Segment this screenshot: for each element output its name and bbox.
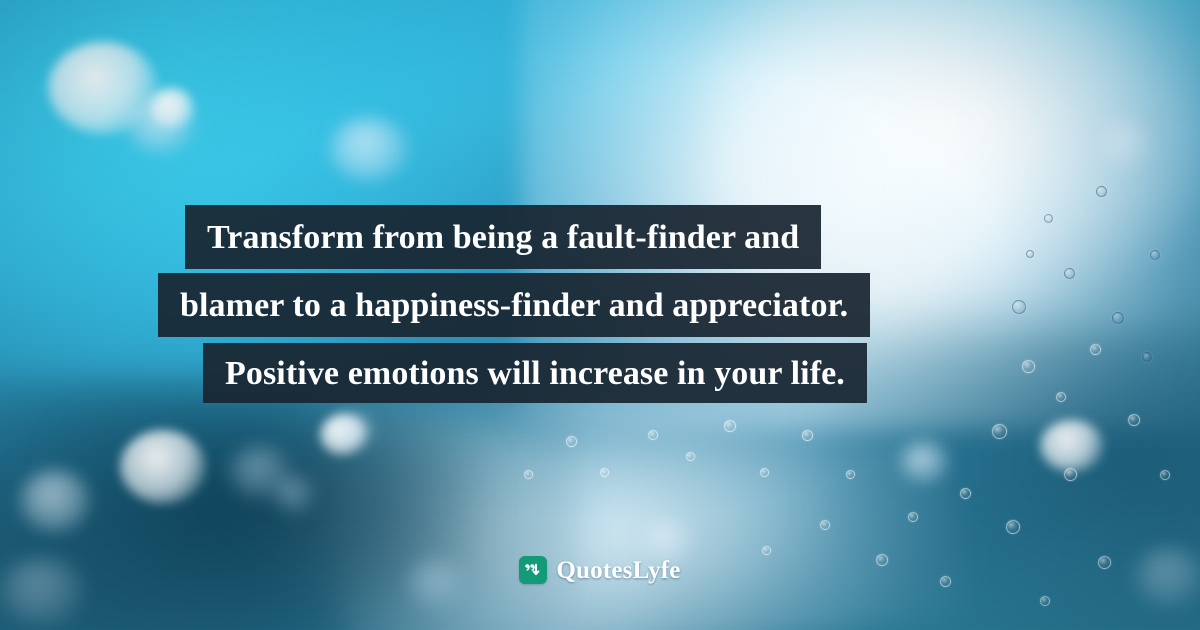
bubble — [600, 468, 609, 477]
bokeh-blob — [900, 442, 948, 482]
bokeh-blob — [20, 470, 90, 532]
quote-line-2: blamer to a happiness-finder and appreci… — [158, 273, 870, 337]
quote-line-1: Transform from being a fault-finder and — [185, 205, 821, 269]
bokeh-blob — [150, 88, 194, 128]
bokeh-blob — [338, 415, 372, 447]
bokeh-blob — [274, 476, 314, 512]
quote-card: Transform from being a fault-finder and … — [0, 0, 1200, 630]
bubble — [1112, 312, 1124, 324]
bubble — [1026, 250, 1034, 258]
bubble — [820, 520, 830, 530]
bubble — [908, 512, 918, 522]
bubble — [1040, 596, 1050, 606]
bubble — [960, 488, 971, 499]
bubble — [1096, 186, 1107, 197]
bokeh-blob — [330, 118, 408, 180]
bubble — [1064, 468, 1077, 481]
bubble — [1090, 344, 1101, 355]
bokeh-blob — [1092, 120, 1150, 168]
bubble — [686, 452, 695, 461]
bubble — [1160, 470, 1170, 480]
bubble — [762, 546, 771, 555]
bubble — [992, 424, 1007, 439]
bubble — [1150, 250, 1160, 260]
bubble — [1056, 392, 1066, 402]
brand-logo[interactable]: QuotesLyfe — [0, 556, 1200, 584]
bubble — [760, 468, 769, 477]
brand-name: QuotesLyfe — [556, 558, 680, 583]
quote-mark-icon — [519, 556, 547, 584]
bubble — [802, 430, 813, 441]
bubble — [1012, 300, 1026, 314]
bubble — [724, 420, 736, 432]
bubble — [1064, 268, 1075, 279]
bokeh-blob — [120, 430, 206, 504]
bubble — [846, 470, 855, 479]
quote-line-3: Positive emotions will increase in your … — [203, 343, 867, 403]
bubble — [648, 430, 658, 440]
bubble — [524, 470, 533, 479]
bubble — [1006, 520, 1020, 534]
bubble — [1044, 214, 1053, 223]
bubble — [1022, 360, 1035, 373]
bubble — [1128, 414, 1140, 426]
bubble — [566, 436, 577, 447]
bubble — [1142, 352, 1152, 362]
bokeh-blob — [1040, 420, 1104, 472]
